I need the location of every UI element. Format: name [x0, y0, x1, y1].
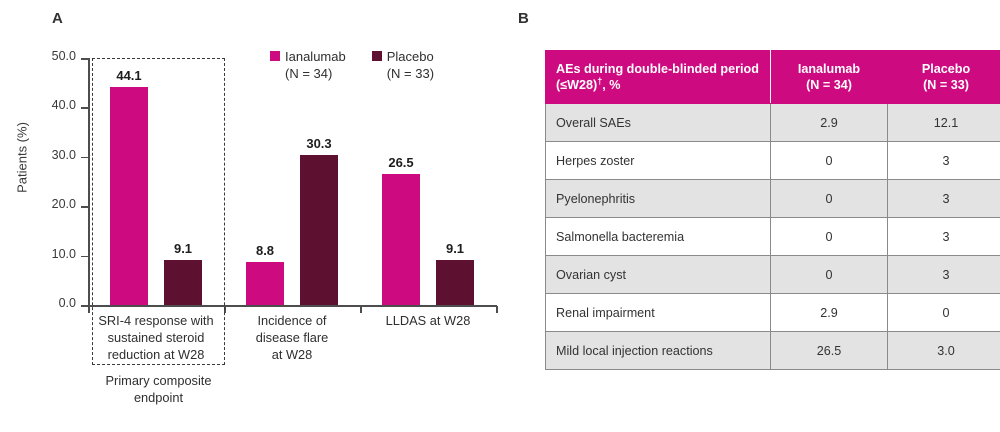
cell-ianalumab-value: 0 [771, 142, 888, 180]
cell-ae-name: Mild local injection reactions [546, 332, 771, 370]
y-tick-label: 40.0 [52, 98, 76, 112]
cell-placebo-value: 3 [888, 218, 1000, 256]
cell-ae-name: Pyelonephritis [546, 180, 771, 218]
x-category-label-line: sustained steroid [80, 329, 232, 346]
cell-ianalumab-value: 0 [771, 180, 888, 218]
legend-label: Placebo [387, 49, 434, 64]
column-header-placebo-name: Placebo [892, 61, 1000, 77]
table-row: Salmonella bacteremia03 [546, 218, 1000, 256]
table-row: Renal impairment2.90 [546, 294, 1000, 332]
y-tick-label: 10.0 [52, 247, 76, 261]
cell-ae-name: Renal impairment [546, 294, 771, 332]
cell-placebo-value: 3 [888, 180, 1000, 218]
table-row: Overall SAEs2.912.1 [546, 104, 1000, 142]
x-category-label-line: Incidence of [216, 312, 368, 329]
x-category-label-line: reduction at W28 [80, 346, 232, 363]
x-category-label-2: LLDAS at W28 [352, 312, 504, 329]
legend-entry-placebo: Placebo(N = 33) [372, 48, 434, 82]
cell-placebo-value: 12.1 [888, 104, 1000, 142]
bar-value-label: 44.1 [116, 68, 141, 83]
x-category-label-line: disease flare [216, 329, 368, 346]
cell-ae-name: Ovarian cyst [546, 256, 771, 294]
bar-value-label: 9.1 [174, 241, 192, 256]
cell-placebo-value: 3 [888, 256, 1000, 294]
bar-placebo-group-0: 9.1 [164, 260, 202, 305]
y-tick-0-0: 0.0 [81, 305, 88, 307]
y-axis-title: Patients (%) [15, 98, 30, 218]
y-tick-label: 30.0 [52, 148, 76, 162]
y-tick-label: 50.0 [52, 49, 76, 63]
bar-value-label: 30.3 [306, 136, 331, 151]
table-row: Mild local injection reactions26.53.0 [546, 332, 1000, 370]
x-category-label-line: at W28 [216, 346, 368, 363]
plot-area: 44.19.18.830.326.59.1 [88, 58, 496, 305]
column-header-ae-text: AEs during double-blinded period (≤W28) [556, 62, 759, 92]
cell-ianalumab-value: 26.5 [771, 332, 888, 370]
bar-value-label: 9.1 [446, 241, 464, 256]
primary-composite-caption-line: endpoint [86, 389, 231, 406]
legend-n-label: (N = 33) [387, 65, 434, 82]
cell-ae-name: Overall SAEs [546, 104, 771, 142]
bar-ianalumab-group-0: 44.1 [110, 87, 148, 305]
column-header-placebo-n: (N = 33) [892, 77, 1000, 93]
cell-ianalumab-value: 2.9 [771, 104, 888, 142]
cell-ae-name: Salmonella bacteremia [546, 218, 771, 256]
cell-ae-name: Herpes zoster [546, 142, 771, 180]
table-head: AEs during double-blinded period (≤W28)†… [546, 51, 1000, 104]
legend-swatch-icon [270, 51, 280, 61]
bar-placebo-group-1: 30.3 [300, 155, 338, 305]
legend-entry-ianalumab: Ianalumab(N = 34) [270, 48, 346, 82]
y-tick-50-0: 50.0 [81, 58, 88, 60]
table-header-row: AEs during double-blinded period (≤W28)†… [546, 51, 1000, 104]
column-header-placebo: Placebo (N = 33) [888, 51, 1000, 104]
panel-a-label: A [52, 10, 63, 27]
cell-ianalumab-value: 0 [771, 218, 888, 256]
column-header-ae-suffix: , % [602, 78, 620, 92]
y-tick-40-0: 40.0 [81, 107, 88, 109]
panel-a-chart: A Patients (%) 0.010.020.030.040.050.0 4… [0, 0, 510, 432]
x-axis-line [88, 305, 497, 307]
panel-b-label: B [518, 10, 529, 27]
x-category-label-1: Incidence ofdisease flareat W28 [216, 312, 368, 363]
table-body: Overall SAEs2.912.1Herpes zoster03Pyelon… [546, 104, 1000, 370]
column-header-ianalumab-name: Ianalumab [775, 61, 883, 77]
bar-placebo-group-2: 9.1 [436, 260, 474, 305]
legend-n-label: (N = 34) [285, 65, 346, 82]
legend-text: Ianalumab(N = 34) [285, 48, 346, 82]
cell-ianalumab-value: 2.9 [771, 294, 888, 332]
cell-ianalumab-value: 0 [771, 256, 888, 294]
table-row: Ovarian cyst03 [546, 256, 1000, 294]
legend-label: Ianalumab [285, 49, 346, 64]
table-row: Pyelonephritis03 [546, 180, 1000, 218]
y-tick-30-0: 30.0 [81, 157, 88, 159]
x-category-label-line: SRI-4 response with [80, 312, 232, 329]
y-tick-10-0: 10.0 [81, 256, 88, 258]
x-category-label-line: LLDAS at W28 [352, 312, 504, 329]
y-tick-label: 0.0 [59, 296, 76, 310]
bar-value-label: 26.5 [388, 155, 413, 170]
cell-placebo-value: 3.0 [888, 332, 1000, 370]
bar-value-label: 8.8 [256, 243, 274, 258]
bar-ianalumab-group-1: 8.8 [246, 262, 284, 305]
adverse-events-table: AEs during double-blinded period (≤W28)†… [545, 50, 1000, 370]
cell-placebo-value: 0 [888, 294, 1000, 332]
table-row: Herpes zoster03 [546, 142, 1000, 180]
primary-composite-endpoint-caption: Primary compositeendpoint [86, 372, 231, 406]
x-category-label-0: SRI-4 response withsustained steroidredu… [80, 312, 232, 363]
bar-ianalumab-group-2: 26.5 [382, 174, 420, 305]
legend-text: Placebo(N = 33) [387, 48, 434, 82]
column-header-ae-description: AEs during double-blinded period (≤W28)†… [546, 51, 771, 104]
y-tick-20-0: 20.0 [81, 206, 88, 208]
chart-legend: Ianalumab(N = 34)Placebo(N = 33) [270, 48, 434, 82]
column-header-ianalumab-n: (N = 34) [775, 77, 883, 93]
primary-composite-caption-line: Primary composite [86, 372, 231, 389]
legend-swatch-icon [372, 51, 382, 61]
cell-placebo-value: 3 [888, 142, 1000, 180]
column-header-ianalumab: Ianalumab (N = 34) [771, 51, 888, 104]
y-tick-label: 20.0 [52, 197, 76, 211]
